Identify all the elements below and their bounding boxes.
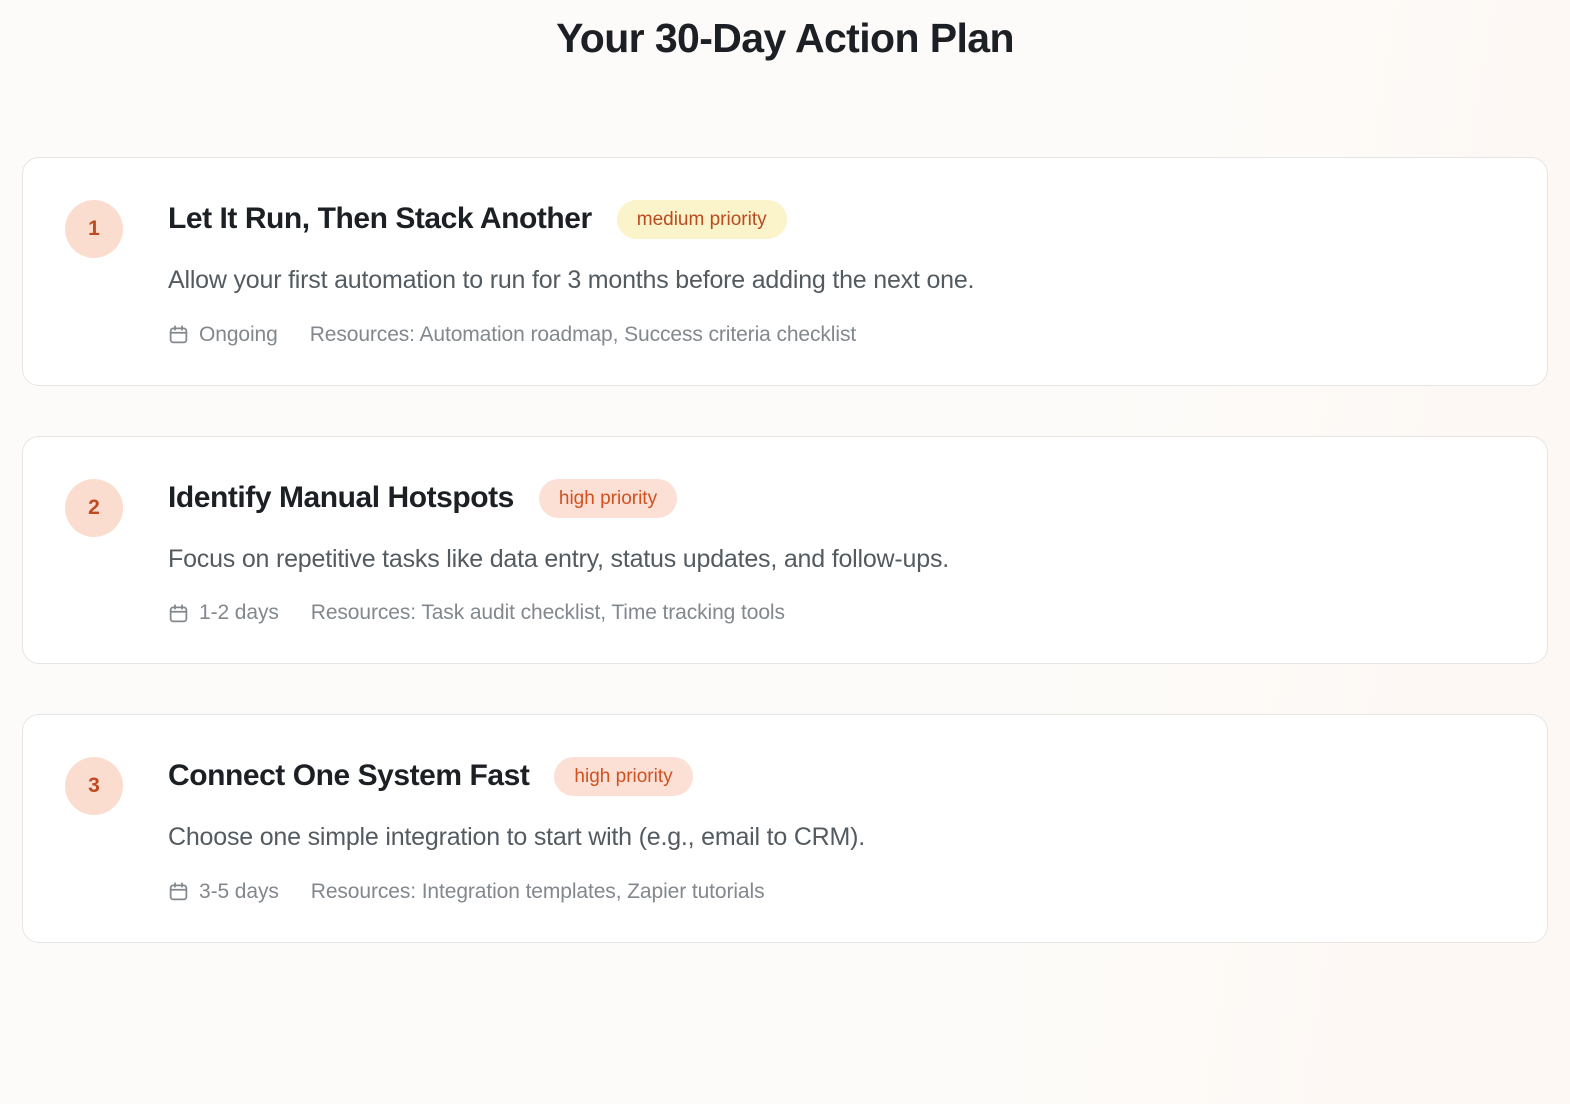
step-resources: Resources: Task audit checklist, Time tr… <box>311 601 785 625</box>
step-content: Identify Manual Hotspots high priority F… <box>168 477 1505 626</box>
step-headline: Identify Manual Hotspots high priority <box>168 479 1505 518</box>
calendar-icon <box>168 324 189 345</box>
step-description: Allow your first automation to run for 3… <box>168 264 1505 297</box>
step-title: Let It Run, Then Stack Another <box>168 202 592 237</box>
step-title: Identify Manual Hotspots <box>168 481 514 516</box>
action-step-list: 1 Let It Run, Then Stack Another medium … <box>22 157 1548 943</box>
step-duration-label: Ongoing <box>199 323 278 347</box>
step-meta: Ongoing Resources: Automation roadmap, S… <box>168 323 1505 347</box>
step-number-badge: 3 <box>65 757 123 815</box>
step-content: Let It Run, Then Stack Another medium pr… <box>168 198 1505 347</box>
step-meta: 1-2 days Resources: Task audit checklist… <box>168 601 1505 625</box>
step-meta: 3-5 days Resources: Integration template… <box>168 880 1505 904</box>
step-title: Connect One System Fast <box>168 759 529 794</box>
calendar-icon <box>168 881 189 902</box>
action-plan-page: Your 30-Day Action Plan 1 Let It Run, Th… <box>0 0 1570 1104</box>
step-number-badge: 1 <box>65 200 123 258</box>
action-step-card[interactable]: 1 Let It Run, Then Stack Another medium … <box>22 157 1548 386</box>
step-resources: Resources: Integration templates, Zapier… <box>311 880 765 904</box>
action-step-card[interactable]: 2 Identify Manual Hotspots high priority… <box>22 436 1548 665</box>
step-duration-label: 1-2 days <box>199 601 279 625</box>
step-description: Focus on repetitive tasks like data entr… <box>168 543 1505 576</box>
step-duration: 3-5 days <box>168 880 279 904</box>
action-step-card[interactable]: 3 Connect One System Fast high priority … <box>22 714 1548 943</box>
step-duration-label: 3-5 days <box>199 880 279 904</box>
step-headline: Let It Run, Then Stack Another medium pr… <box>168 200 1505 239</box>
step-duration: Ongoing <box>168 323 278 347</box>
step-duration: 1-2 days <box>168 601 279 625</box>
status-badge: medium priority <box>617 200 787 239</box>
status-badge: high priority <box>539 479 677 518</box>
calendar-icon <box>168 603 189 624</box>
status-badge: high priority <box>554 757 692 796</box>
step-resources: Resources: Automation roadmap, Success c… <box>310 323 856 347</box>
step-content: Connect One System Fast high priority Ch… <box>168 755 1505 904</box>
step-headline: Connect One System Fast high priority <box>168 757 1505 796</box>
page-title: Your 30-Day Action Plan <box>22 0 1548 59</box>
step-number-badge: 2 <box>65 479 123 537</box>
step-description: Choose one simple integration to start w… <box>168 821 1505 854</box>
